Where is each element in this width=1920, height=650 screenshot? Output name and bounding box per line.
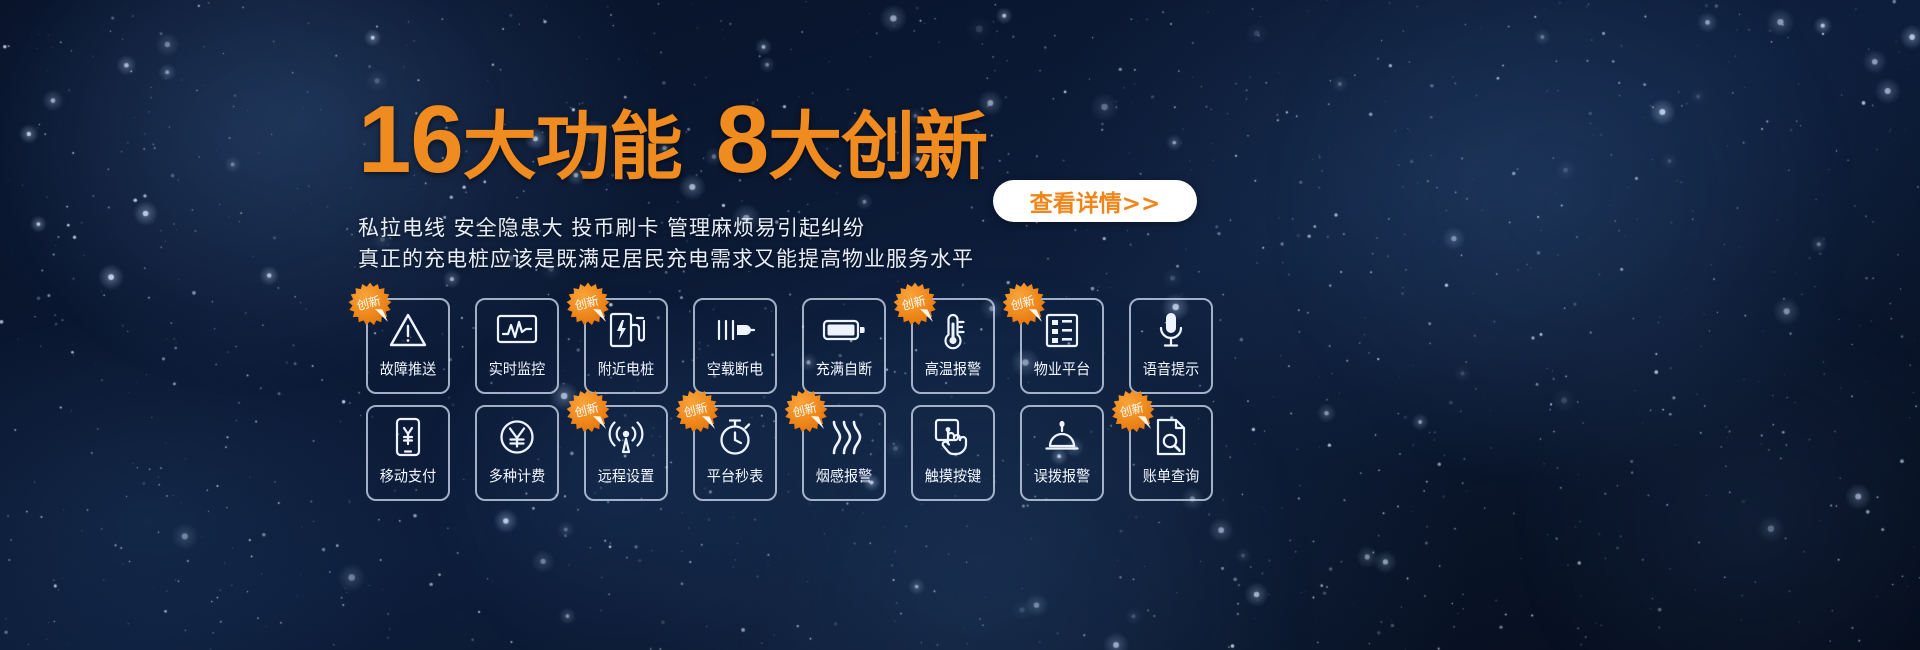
feature-label: 实时监控 xyxy=(489,360,545,378)
feature-cell: 账单查询创新 xyxy=(1121,403,1222,506)
yuan-coin-icon xyxy=(477,407,557,467)
feature-label: 附近电桩 xyxy=(598,360,654,378)
thermometer-icon xyxy=(913,300,993,360)
feature-card-plug-cutoff[interactable]: 空载断电 xyxy=(693,298,777,394)
feature-label: 远程设置 xyxy=(598,467,654,485)
feature-label: 误拨报警 xyxy=(1034,467,1090,485)
feature-label: 充满自断 xyxy=(816,360,872,378)
alarm-bell-icon xyxy=(1022,407,1102,467)
subtitle-line-1: 私拉电线 安全隐患大 投币刷卡 管理麻烦易引起纠纷 xyxy=(358,212,865,242)
feature-cell: 物业平台创新 xyxy=(1012,296,1113,399)
feature-cell: 语音提示 xyxy=(1121,296,1222,399)
view-details-button[interactable]: 查看详情>> xyxy=(993,180,1197,222)
monitor-waveform-icon xyxy=(477,300,557,360)
feature-cell: 触摸按键 xyxy=(903,403,1004,506)
feature-card-yuan-coin[interactable]: 多种计费 xyxy=(475,405,559,501)
feature-label: 故障推送 xyxy=(380,360,436,378)
smoke-detector-icon xyxy=(804,407,884,467)
feature-card-alarm-bell[interactable]: 误拨报警 xyxy=(1020,405,1104,501)
feature-card-warning-triangle[interactable]: 故障推送 xyxy=(366,298,450,394)
microphone-icon xyxy=(1131,300,1211,360)
feature-grid: 故障推送创新实时监控附近电桩创新空载断电充满自断高温报警创新物业平台创新语音提示… xyxy=(358,296,1222,506)
feature-label: 平台秒表 xyxy=(707,467,763,485)
feature-cell: 移动支付 xyxy=(358,403,459,506)
feature-label: 多种计费 xyxy=(489,467,545,485)
feature-cell: 空载断电 xyxy=(685,296,786,399)
feature-cell: 多种计费 xyxy=(467,403,568,506)
feature-label: 物业平台 xyxy=(1034,360,1090,378)
wireless-signal-icon xyxy=(586,407,666,467)
feature-label: 语音提示 xyxy=(1143,360,1199,378)
feature-card-monitor-waveform[interactable]: 实时监控 xyxy=(475,298,559,394)
feature-card-battery-full[interactable]: 充满自断 xyxy=(802,298,886,394)
plug-cutoff-icon xyxy=(695,300,775,360)
feature-cell: 误拨报警 xyxy=(1012,403,1113,506)
stopwatch-icon xyxy=(695,407,775,467)
feature-card-smoke-detector[interactable]: 烟感报警 xyxy=(802,405,886,501)
feature-card-microphone[interactable]: 语音提示 xyxy=(1129,298,1213,394)
feature-cell: 远程设置创新 xyxy=(576,403,677,506)
headline-word-functions: 大功能 xyxy=(463,104,682,190)
feature-card-wireless-signal[interactable]: 远程设置 xyxy=(584,405,668,501)
feature-cell: 实时监控 xyxy=(467,296,568,399)
headline-number-innovations: 8 xyxy=(716,86,768,193)
headline-number-functions: 16 xyxy=(358,86,463,193)
feature-card-building[interactable]: 物业平台 xyxy=(1020,298,1104,394)
feature-card-bill-search[interactable]: 账单查询 xyxy=(1129,405,1213,501)
feature-card-thermometer[interactable]: 高温报警 xyxy=(911,298,995,394)
headline-word-innovations: 大创新 xyxy=(768,104,987,190)
feature-label: 空载断电 xyxy=(707,360,763,378)
feature-cell: 烟感报警创新 xyxy=(794,403,895,506)
feature-card-mobile-payment[interactable]: 移动支付 xyxy=(366,405,450,501)
battery-full-icon xyxy=(804,300,884,360)
feature-cell: 高温报警创新 xyxy=(903,296,1004,399)
feature-label: 移动支付 xyxy=(380,467,436,485)
feature-card-charging-pile[interactable]: 附近电桩 xyxy=(584,298,668,394)
feature-card-stopwatch[interactable]: 平台秒表 xyxy=(693,405,777,501)
page-title: 16大功能8大创新 xyxy=(358,92,987,195)
feature-cell: 平台秒表创新 xyxy=(685,403,786,506)
feature-cell: 故障推送创新 xyxy=(358,296,459,399)
bill-search-icon xyxy=(1131,407,1211,467)
charging-pile-icon xyxy=(586,300,666,360)
touch-hand-icon xyxy=(913,407,993,467)
feature-label: 触摸按键 xyxy=(925,467,981,485)
feature-cell: 充满自断 xyxy=(794,296,895,399)
building-icon xyxy=(1022,300,1102,360)
subtitle-line-2: 真正的充电桩应该是既满足居民充电需求又能提高物业服务水平 xyxy=(358,243,974,273)
feature-cell: 附近电桩创新 xyxy=(576,296,677,399)
feature-label: 高温报警 xyxy=(925,360,981,378)
mobile-payment-icon xyxy=(368,407,448,467)
warning-triangle-icon xyxy=(368,300,448,360)
feature-label: 账单查询 xyxy=(1143,467,1199,485)
feature-card-touch-hand[interactable]: 触摸按键 xyxy=(911,405,995,501)
promo-banner: 16大功能8大创新 查看详情>> 私拉电线 安全隐患大 投币刷卡 管理麻烦易引起… xyxy=(0,0,1920,650)
feature-label: 烟感报警 xyxy=(816,467,872,485)
